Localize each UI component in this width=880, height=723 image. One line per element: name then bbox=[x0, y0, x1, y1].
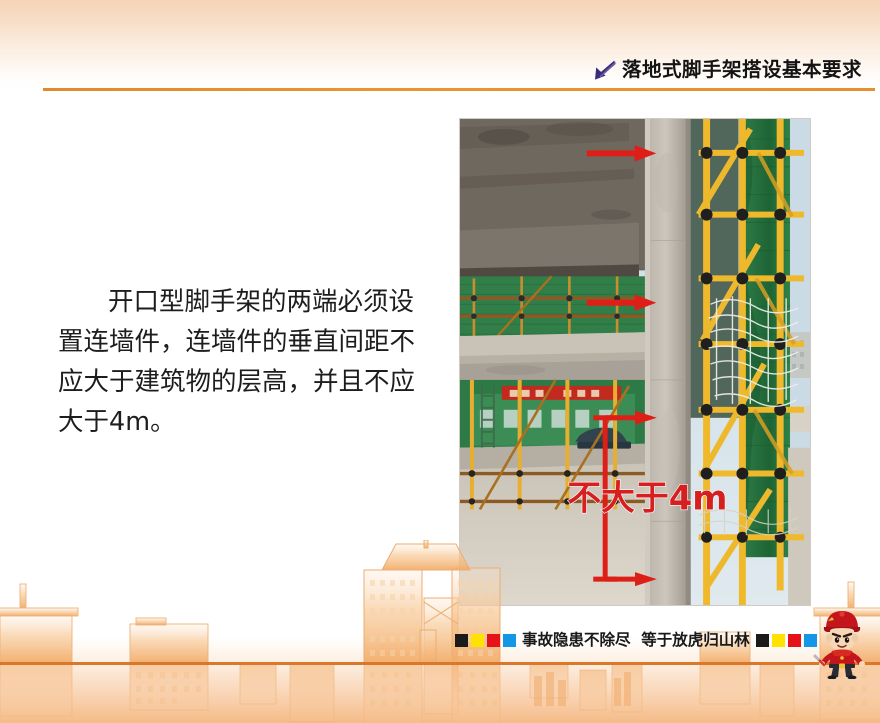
header-title-group: 落地式脚手架搭设基本要求 bbox=[593, 58, 862, 82]
safety-worker-mascot-icon bbox=[812, 607, 872, 679]
body-paragraph: 开口型脚手架的两端必须设置连墙件，连墙件的垂直间距不应大于建筑物的层高，并且不应… bbox=[58, 282, 418, 442]
marker-blue-icon bbox=[503, 634, 516, 647]
footer-slogan-group: 事故隐患不除尽 等于放虎归山林 bbox=[455, 633, 817, 649]
header-divider-rule bbox=[43, 88, 875, 91]
marker-yellow-icon bbox=[471, 634, 484, 647]
slide-canvas: 落地式脚手架搭设基本要求 开口型脚手架的两端必须设置连墙件，连墙件的垂直间距不应… bbox=[0, 0, 880, 723]
scaffolding-photo: 不大于4m bbox=[459, 118, 811, 606]
arrow-down-left-icon bbox=[593, 58, 617, 82]
marker-black-icon bbox=[756, 634, 769, 647]
footer-slogan-text: 事故隐患不除尽 等于放虎归山林 bbox=[522, 633, 750, 649]
color-marker-group-left bbox=[455, 634, 516, 647]
page-title: 落地式脚手架搭设基本要求 bbox=[622, 60, 862, 80]
color-marker-group-right bbox=[756, 634, 817, 647]
marker-black-icon bbox=[455, 634, 468, 647]
marker-yellow-icon bbox=[772, 634, 785, 647]
marker-red-icon bbox=[487, 634, 500, 647]
footer-divider-rule bbox=[0, 662, 880, 665]
marker-red-icon bbox=[788, 634, 801, 647]
svg-text:不大于4m: 不大于4m bbox=[567, 478, 727, 517]
